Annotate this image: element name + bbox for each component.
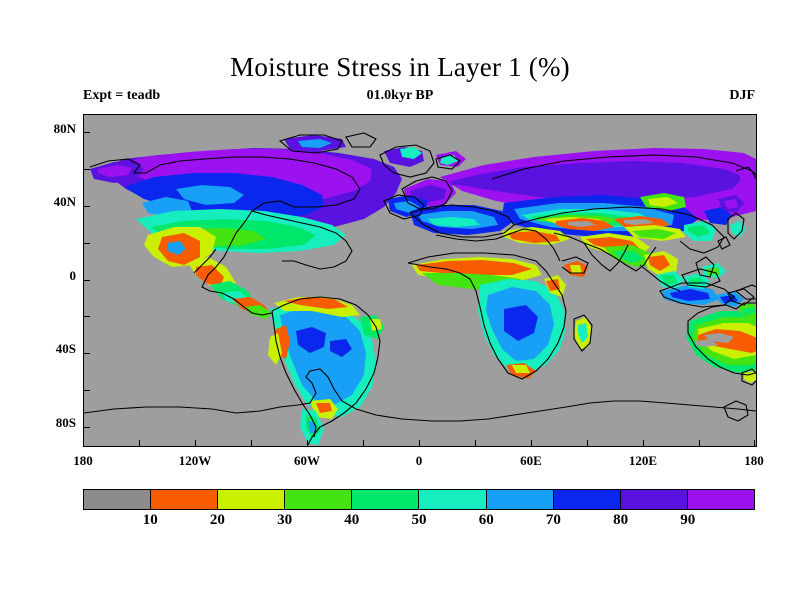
figure-root: Moisture Stress in Layer 1 (%) 01.0kyr B…	[0, 0, 800, 600]
colorbar-band-60-70	[486, 490, 553, 509]
colorbar-label-50: 50	[412, 512, 427, 529]
y-tick-20s	[84, 316, 90, 317]
x-tick-30w	[363, 440, 364, 446]
colorbar-band-50-60	[418, 490, 485, 509]
colorbar-label-70: 70	[546, 512, 561, 529]
x-tick-120e	[643, 440, 644, 446]
x-tick-90w	[251, 440, 252, 446]
y-axis-label-80n: 80N	[36, 121, 76, 137]
colorbar-label-60: 60	[479, 512, 494, 529]
colorbar-label-20: 20	[210, 512, 225, 529]
season-label: DJF	[729, 88, 755, 104]
x-tick-30e	[475, 440, 476, 446]
x-axis-label-120w: 120W	[179, 453, 212, 469]
x-tick-90e	[587, 440, 588, 446]
page-title: Moisture Stress in Layer 1 (%)	[0, 52, 800, 83]
experiment-label: Expt = teadb	[83, 88, 160, 104]
x-tick-180w	[83, 440, 84, 446]
x-axis-label-180e: 180	[744, 453, 764, 469]
y-tick-0	[84, 280, 90, 281]
map-plot-area	[83, 114, 757, 447]
colorbar-tick-labels: 10 20 30 40 50 60 70 80 90	[83, 512, 755, 532]
world-moisture-stress-map	[84, 115, 756, 446]
y-tick-60s	[84, 390, 90, 391]
y-tick-40n	[84, 206, 90, 207]
colorbar-band-80-90	[620, 490, 687, 509]
y-tick-20n	[84, 243, 90, 244]
y-axis-label-40n: 40N	[36, 194, 76, 210]
colorbar-band-0-10	[84, 490, 150, 509]
x-axis-label-180w: 180	[73, 453, 93, 469]
colorbar-band-20-30	[217, 490, 284, 509]
y-axis-label-80s: 80S	[36, 415, 76, 431]
y-tick-80s	[84, 427, 90, 428]
x-tick-60e	[531, 440, 532, 446]
colorbar-label-40: 40	[344, 512, 359, 529]
colorbar-label-10: 10	[143, 512, 158, 529]
x-axis-label-120e: 120E	[629, 453, 657, 469]
x-tick-60w	[307, 440, 308, 446]
y-tick-40s	[84, 353, 90, 354]
colorbar-label-90: 90	[680, 512, 695, 529]
colorbar-label-80: 80	[613, 512, 628, 529]
colorbar	[83, 489, 755, 510]
y-tick-80n	[84, 132, 90, 133]
x-axis-label-60w: 60W	[294, 453, 320, 469]
x-tick-0	[419, 440, 420, 446]
x-axis-label-0: 0	[416, 453, 423, 469]
x-tick-150e	[699, 440, 700, 446]
colorbar-band-30-40	[284, 490, 351, 509]
x-axis-label-60e: 60E	[520, 453, 542, 469]
y-axis-label-40s: 40S	[36, 341, 76, 357]
colorbar-band-10-20	[150, 490, 217, 509]
x-tick-120w	[195, 440, 196, 446]
y-tick-60n	[84, 169, 90, 170]
colorbar-label-30: 30	[277, 512, 292, 529]
colorbar-band-70-80	[553, 490, 620, 509]
x-tick-150w	[139, 440, 140, 446]
x-tick-180e	[754, 440, 755, 446]
y-axis-label-0: 0	[36, 268, 76, 284]
colorbar-band-90-100	[687, 490, 754, 509]
colorbar-band-40-50	[351, 490, 418, 509]
